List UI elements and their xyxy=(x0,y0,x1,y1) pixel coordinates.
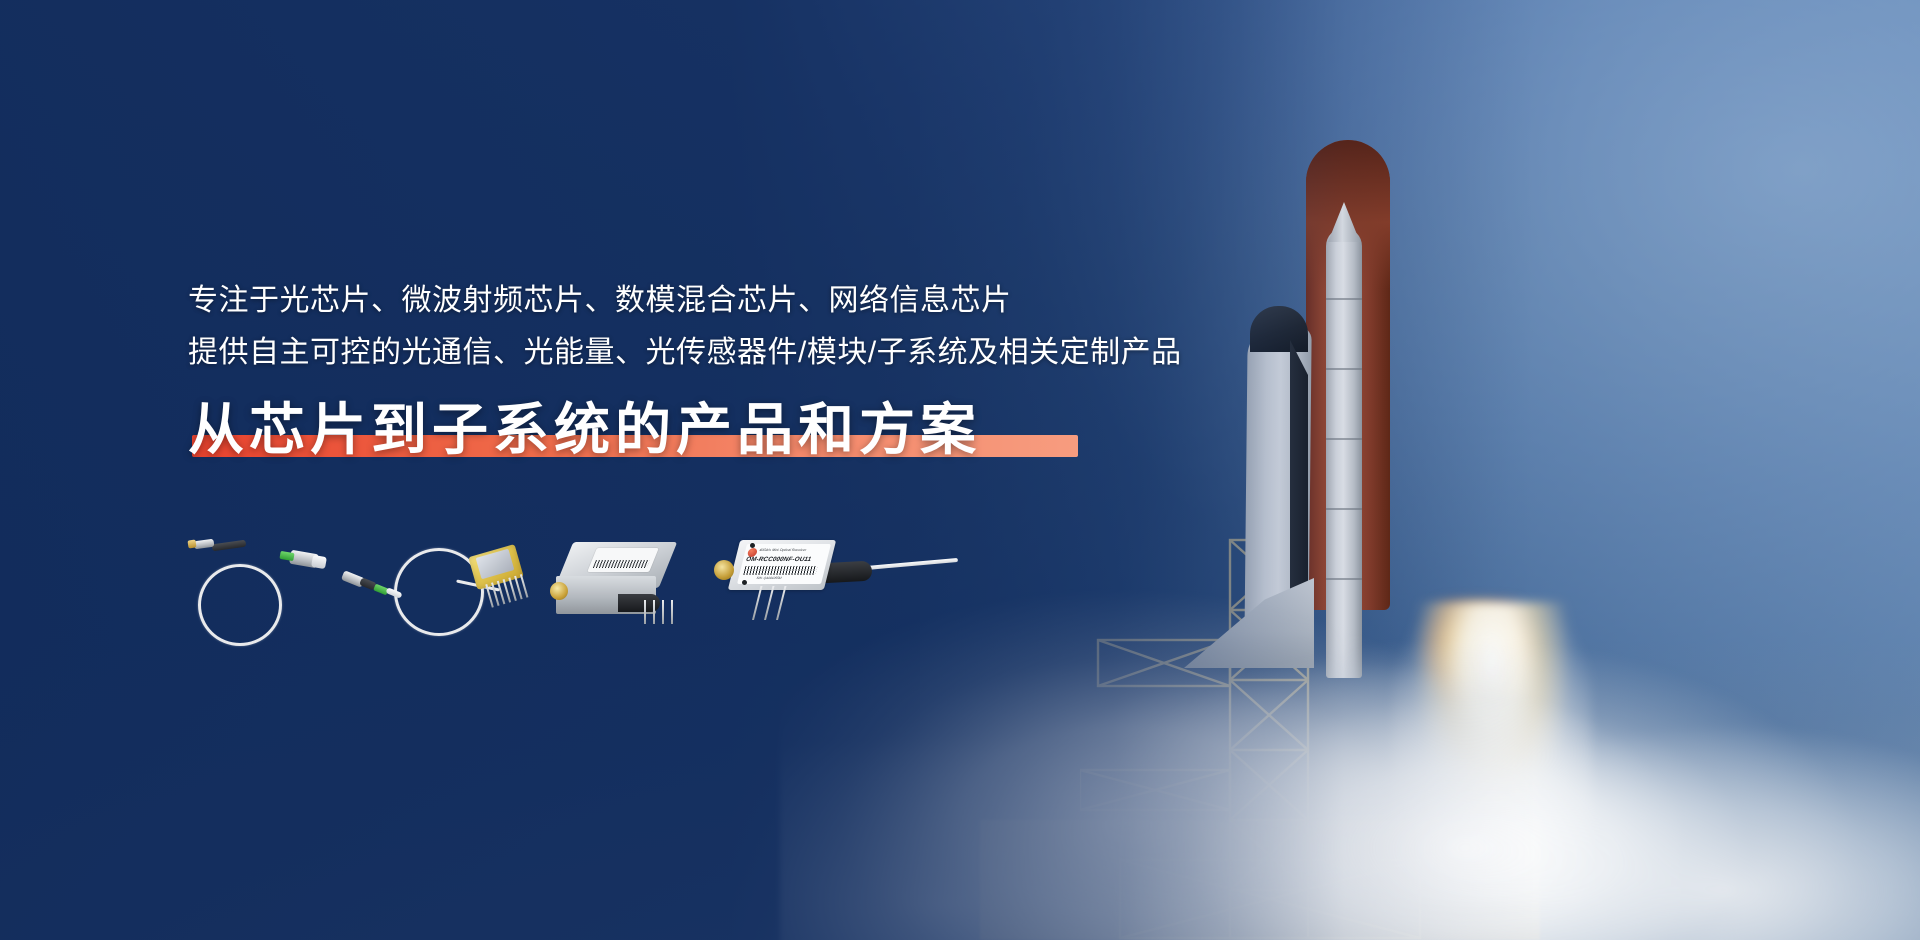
hero-subtitle-line-2: 提供自主可控的光通信、光能量、光传感器件/模块/子系统及相关定制产品 xyxy=(188,330,1188,376)
receiver-barcode-icon xyxy=(743,566,817,575)
hero-text-block: 专注于光芯片、微波射频芯片、数模混合芯片、网络信息芯片 提供自主可控的光通信、光… xyxy=(188,278,1188,463)
product-rf-metal-module xyxy=(556,542,676,626)
product-butterfly-laser-module xyxy=(458,540,538,622)
hero-headline: 从芯片到子系统的产品和方案 xyxy=(188,397,981,463)
hero-banner: 专注于光芯片、微波射频芯片、数模混合芯片、网络信息芯片 提供自主可控的光通信、光… xyxy=(0,0,1920,940)
receiver-part-number: OM-RCC000NF-OU11 xyxy=(745,556,812,563)
hero-subtitle-line-1: 专注于光芯片、微波射频芯片、数模混合芯片、网络信息芯片 xyxy=(188,278,1188,324)
left-text-overlay-veil xyxy=(0,0,1920,940)
receiver-caption: 40Gb/s Mini Optical Receiver xyxy=(759,548,807,552)
product-photo-row: 40Gb/s Mini Optical Receiver OM-RCC000NF… xyxy=(186,520,1186,660)
product-fiber-pigtail-1 xyxy=(186,530,346,650)
hero-headline-wrap: 从芯片到子系统的产品和方案 xyxy=(188,397,981,463)
receiver-serial-number: S/N: QA001055M xyxy=(756,576,782,580)
receiver-label: 40Gb/s Mini Optical Receiver OM-RCC000NF… xyxy=(737,544,831,584)
product-mini-optical-receiver: 40Gb/s Mini Optical Receiver OM-RCC000NF… xyxy=(716,534,916,630)
